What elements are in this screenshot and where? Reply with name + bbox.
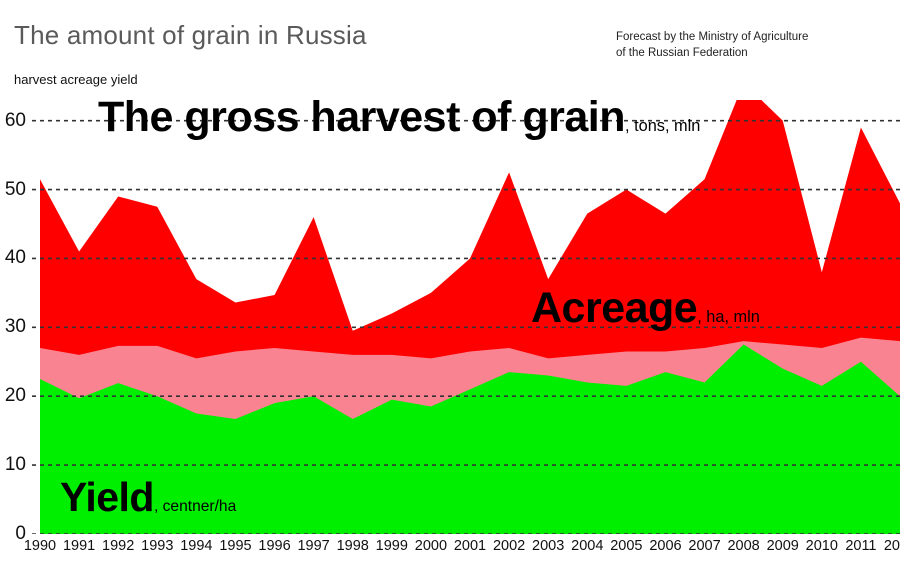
series-label-acreage-unit: , ha, mln [697, 308, 760, 326]
area-chart-svg [32, 100, 900, 534]
y-tick-label-60: 60 [0, 110, 26, 132]
x-tick-label-1998: 1998 [337, 538, 369, 554]
source-note: Forecast by the Ministry of Agriculture … [616, 30, 808, 61]
y-tick-label-30: 30 [0, 316, 26, 338]
x-tick-label-2008: 2008 [727, 538, 759, 554]
x-tick-label-2000: 2000 [415, 538, 447, 554]
series-label-yield-text: Yield [60, 474, 154, 520]
series-label-gross-harvest: The gross harvest of grain, tons, mln [98, 96, 700, 139]
series-label-gross-text: The gross harvest of grain [98, 93, 625, 141]
x-tick-label-1992: 1992 [102, 538, 134, 554]
series-label-gross-unit: , tons, mln [625, 117, 700, 135]
series-areas [40, 100, 900, 534]
x-tick-label-2005: 2005 [610, 538, 642, 554]
x-tick-label-1993: 1993 [141, 538, 173, 554]
x-tick-label-1996: 1996 [258, 538, 290, 554]
y-tick-label-40: 40 [0, 247, 26, 269]
y-tick-label-20: 20 [0, 385, 26, 407]
x-tick-label-1991: 1991 [63, 538, 95, 554]
x-tick-label-1995: 1995 [219, 538, 251, 554]
series-label-yield-unit: , centner/ha [154, 498, 236, 515]
chart-plot-area: 0102030405060 [32, 100, 900, 534]
x-tick-label-1997: 1997 [297, 538, 329, 554]
x-tick-label-2003: 2003 [532, 538, 564, 554]
x-tick-label-2010: 2010 [806, 538, 838, 554]
page-title: The amount of grain in Russia [14, 20, 367, 51]
x-axis-ticks: 1990199119921993199419951996199719981999… [32, 538, 900, 568]
series-label-acreage: Acreage, ha, mln [531, 287, 760, 330]
x-tick-label-2001: 2001 [454, 538, 486, 554]
series-label-yield: Yield, centner/ha [60, 477, 236, 518]
x-tick-label-1999: 1999 [376, 538, 408, 554]
x-tick-label-2011: 2011 [845, 538, 876, 554]
y-tick-label-50: 50 [0, 179, 26, 201]
infographic-page: The amount of grain in Russia Forecast b… [0, 0, 900, 576]
y-axis-caption: harvest acreage yield [14, 72, 138, 87]
y-tick-label-10: 10 [0, 454, 26, 476]
x-tick-label-2006: 2006 [649, 538, 681, 554]
x-tick-label-2004: 2004 [571, 538, 603, 554]
x-tick-label-2009: 2009 [767, 538, 799, 554]
x-tick-label-2002: 2002 [493, 538, 525, 554]
x-tick-label-2012: 2012 [884, 538, 900, 554]
y-tick-label-0: 0 [0, 523, 26, 545]
x-tick-label-1994: 1994 [180, 538, 212, 554]
series-label-acreage-text: Acreage [531, 284, 697, 332]
x-tick-label-2007: 2007 [688, 538, 720, 554]
x-tick-label-1990: 1990 [24, 538, 56, 554]
